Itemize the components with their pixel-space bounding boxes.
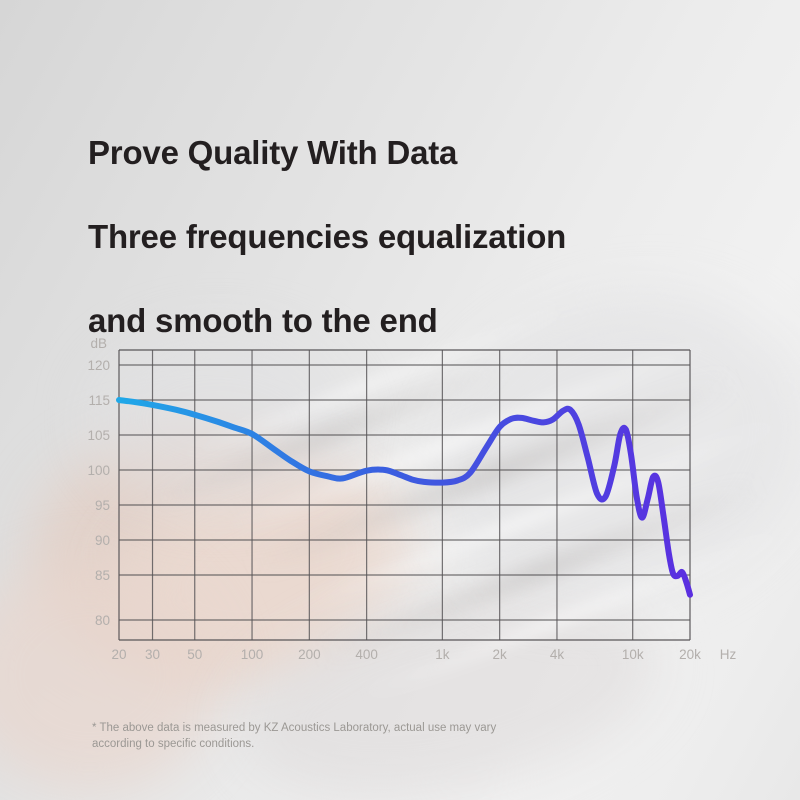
axis-tick-label: 100 — [87, 463, 110, 478]
axis-tick-label: 95 — [95, 498, 110, 513]
axis-tick-label: 400 — [355, 647, 378, 662]
axis-tick-label: 2k — [493, 647, 508, 662]
axis-tick-label: 20k — [679, 647, 701, 662]
axis-tick-label: 200 — [298, 647, 321, 662]
axis-tick-label: 80 — [95, 613, 110, 628]
axis-tick-label: 10k — [622, 647, 644, 662]
axis-tick-label: 120 — [87, 358, 110, 373]
chart-footnote: * The above data is measured by KZ Acous… — [92, 704, 652, 752]
y-axis-title: dB — [90, 336, 107, 351]
frequency-response-curve — [119, 400, 690, 595]
axis-tick-label: 1k — [435, 647, 450, 662]
frequency-response-chart: 12011510510095908580 2030501002004001k2k… — [0, 0, 800, 800]
axis-tick-label: 115 — [88, 393, 110, 408]
axis-tick-label: 85 — [95, 568, 110, 583]
axis-tick-label: 105 — [87, 428, 110, 443]
axis-tick-label: 90 — [95, 533, 110, 548]
chart-svg: 12011510510095908580 2030501002004001k2k… — [0, 0, 800, 800]
y-axis-tick-labels: 12011510510095908580 — [87, 358, 110, 628]
footnote-line-1: * The above data is measured by KZ Acous… — [92, 722, 496, 734]
footnote-line-2: according to specific conditions. — [92, 738, 254, 750]
axis-tick-label: 50 — [187, 647, 202, 662]
axis-tick-label: 30 — [145, 647, 160, 662]
axis-tick-label: 4k — [550, 647, 565, 662]
axis-tick-label: 20 — [111, 647, 126, 662]
x-axis-tick-labels: 2030501002004001k2k4k10k20k — [111, 647, 701, 662]
promo-page: Prove Quality With Data Three frequencie… — [0, 0, 800, 800]
x-axis-title: Hz — [720, 647, 737, 662]
axis-tick-label: 100 — [241, 647, 264, 662]
